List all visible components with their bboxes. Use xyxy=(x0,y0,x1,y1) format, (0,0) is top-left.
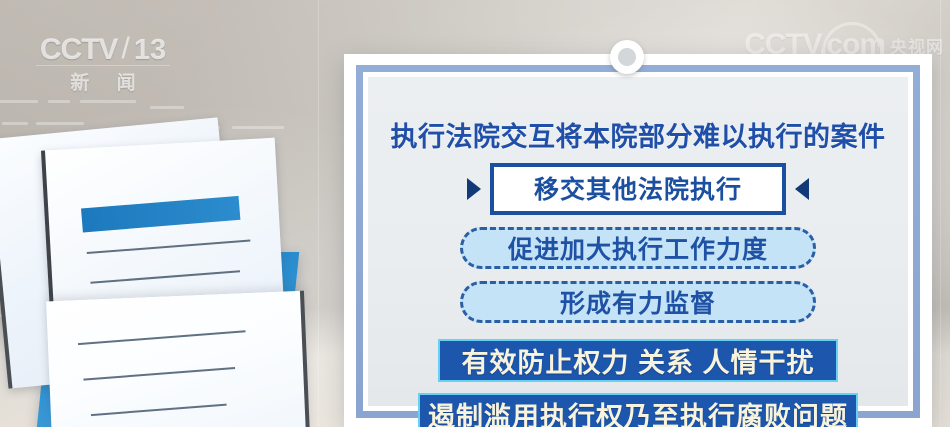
paper-sheet-back xyxy=(0,117,241,388)
channel-logo-underline xyxy=(36,65,170,66)
paper-sheet-middle xyxy=(41,138,289,409)
dashed-pill-1: 促进加大执行工作力度 xyxy=(460,227,816,269)
channel-name: CCTV xyxy=(40,33,118,67)
triangle-left-icon xyxy=(795,178,809,200)
panel-circle-decoration xyxy=(610,40,644,74)
solid-bar-1: 有效防止权力 关系 人情干扰 xyxy=(438,339,838,382)
solid-bar-2: 遏制滥用执行权乃至执行腐败问题 xyxy=(418,393,858,427)
document-illustration xyxy=(0,104,324,427)
channel-logo-slash: / xyxy=(122,32,130,66)
background-stripe xyxy=(940,0,941,427)
dashed-pill-2: 形成有力监督 xyxy=(460,281,816,323)
highlight-row: 移交其他法院执行 xyxy=(467,163,809,215)
panel-heading: 执行法院交互将本院部分难以执行的案件 xyxy=(391,115,886,154)
channel-subtitle: 新 闻 xyxy=(28,68,178,95)
panel-blue-frame: 执行法院交互将本院部分难以执行的案件 移交其他法院执行 促进加大执行工作力度 形… xyxy=(356,65,920,418)
info-panel: 执行法院交互将本院部分难以执行的案件 移交其他法院执行 促进加大执行工作力度 形… xyxy=(344,54,932,427)
channel-logo-row: CCTV / 13 xyxy=(28,33,178,67)
highlight-box: 移交其他法院执行 xyxy=(490,163,786,215)
background-code-texture xyxy=(0,96,320,346)
channel-number: 13 xyxy=(134,34,166,67)
document-title-bar xyxy=(81,196,240,233)
paper-sheet-front xyxy=(46,291,312,427)
channel-logo: CCTV / 13 新 闻 xyxy=(28,33,178,95)
folder-back-shape xyxy=(37,252,299,427)
background-stripe xyxy=(318,0,319,427)
triangle-right-icon xyxy=(467,178,481,200)
panel-white-gap: 执行法院交互将本院部分难以执行的案件 移交其他法院执行 促进加大执行工作力度 形… xyxy=(363,72,913,411)
panel-content: 执行法院交互将本院部分难以执行的案件 移交其他法院执行 促进加大执行工作力度 形… xyxy=(368,77,908,406)
broadcast-screen: CCTV / 13 新 闻 CCTV.com 央视网 xyxy=(0,0,950,427)
